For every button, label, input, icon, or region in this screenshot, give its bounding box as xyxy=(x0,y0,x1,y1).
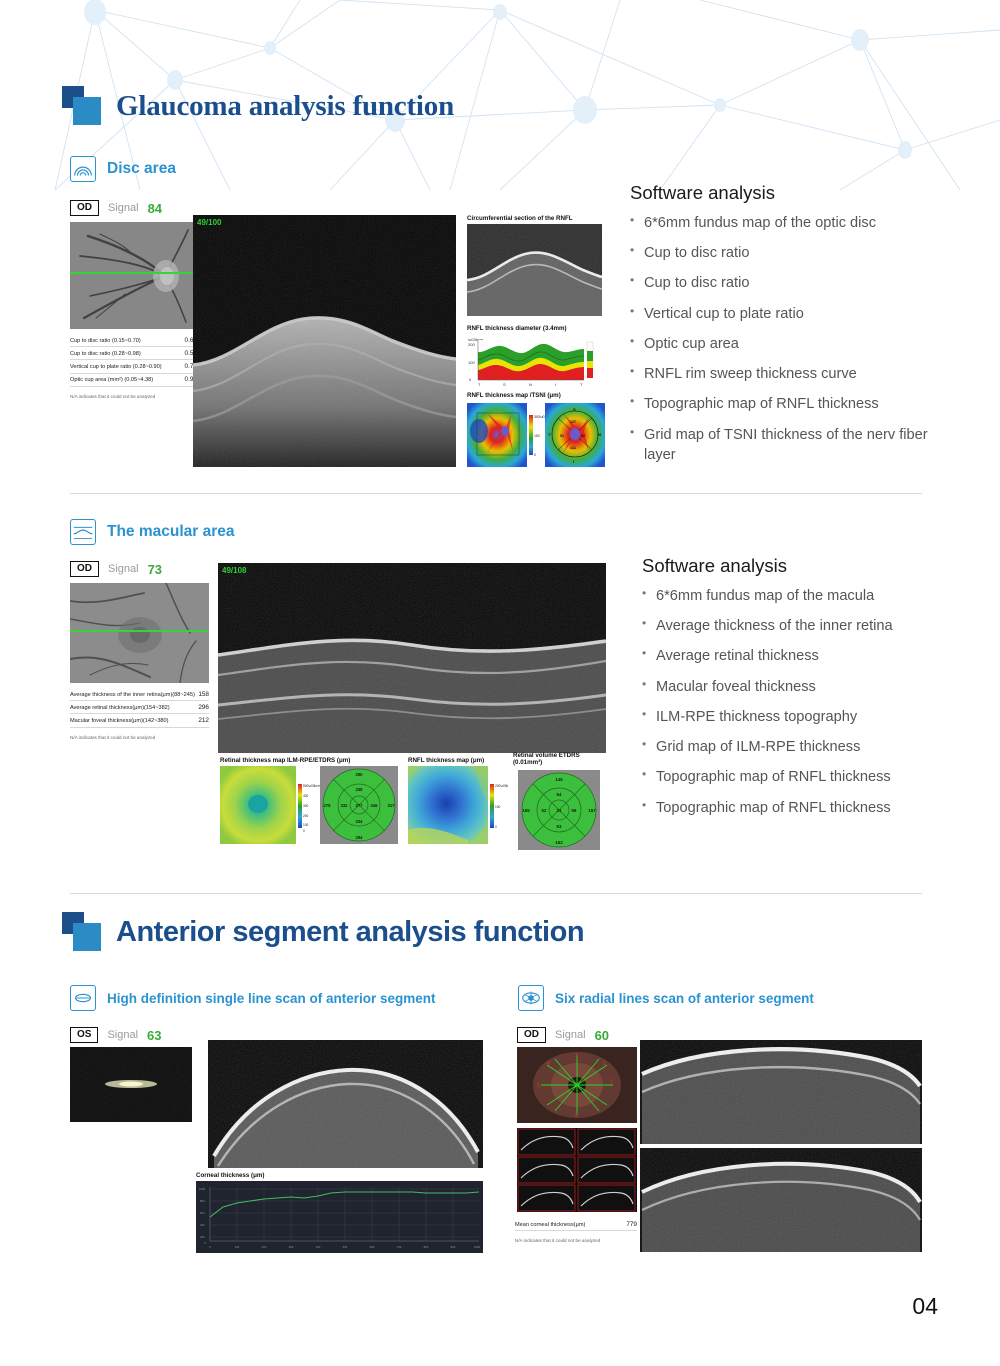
svg-text:700: 700 xyxy=(397,1245,402,1249)
metric-label: Macular foveal thickness(μm)(142~380) xyxy=(70,714,198,727)
anterior-preview-left xyxy=(70,1047,192,1122)
oct-frame-index: 49/100 xyxy=(197,218,221,227)
svg-text:0: 0 xyxy=(495,825,497,829)
list-item: Topographic map of RNFL thickness xyxy=(642,798,952,819)
svg-text:400: 400 xyxy=(316,1245,321,1249)
oct-strip-circumferential xyxy=(467,224,602,316)
table-row: Vertical cup to plate ratio (0.28~0.90) … xyxy=(70,360,197,373)
metric-label: Cup to disc ratio (0.28~0.98) xyxy=(70,347,182,360)
signal-label: Signal xyxy=(555,1029,586,1041)
svg-text:900: 900 xyxy=(451,1245,456,1249)
subsection-header-six-radial-scan: Six radial lines scan of anterior segmen… xyxy=(518,985,814,1011)
subsection-header-single-line-scan: High definition single line scan of ante… xyxy=(70,985,436,1011)
svg-text:I: I xyxy=(573,459,574,464)
retinal-thickness-visuals: 500\u03bcm400300 2001000 290 338 277 334… xyxy=(220,766,400,844)
metric-label: Average thickness of the inner retina(μm… xyxy=(70,688,198,701)
metric-value: 212 xyxy=(198,714,209,727)
svg-text:294: 294 xyxy=(356,835,364,840)
fundus-image-macula xyxy=(70,583,209,683)
section-title-anterior-segment: Anterior segment analysis function xyxy=(62,912,584,952)
svg-text:5: 5 xyxy=(537,1083,540,1089)
svg-text:54: 54 xyxy=(557,792,562,797)
svg-text:100: 100 xyxy=(495,805,501,809)
analysis-list: 6*6mm fundus map of the optic disc Cup t… xyxy=(630,213,950,466)
chart-caption: Circumferential section of the RNFL xyxy=(467,215,602,222)
svg-text:300: 300 xyxy=(289,1245,294,1249)
table-row: Average thickness of the inner retina(μm… xyxy=(70,688,209,701)
svg-text:600: 600 xyxy=(200,1211,205,1215)
svg-text:500\u03bcm: 500\u03bcm xyxy=(303,784,321,788)
svg-text:S: S xyxy=(503,382,506,387)
svg-text:400: 400 xyxy=(303,794,309,798)
svg-text:0: 0 xyxy=(469,377,472,382)
chart-caption: Retinal volume ETDRS (0.01mm³) xyxy=(513,752,608,766)
svg-text:800: 800 xyxy=(200,1199,205,1203)
analysis-title: Software analysis xyxy=(642,555,952,577)
radial-scan-preview: 123 456 xyxy=(517,1047,637,1123)
scan-line-indicator xyxy=(70,630,209,632)
svg-text:1: 1 xyxy=(610,1079,613,1085)
list-item: Grid map of ILM-RPE thickness xyxy=(642,737,952,758)
list-item: Vertical cup to plate ratio xyxy=(630,304,950,325)
oct-bscan-anterior-left xyxy=(208,1040,483,1168)
chart-circumferential-rnfl: Circumferential section of the RNFL xyxy=(467,215,602,316)
svg-text:317: 317 xyxy=(388,803,396,808)
oct-frame-index: 49/108 xyxy=(222,566,246,575)
svg-text:338: 338 xyxy=(356,787,364,792)
svg-text:290: 290 xyxy=(356,772,364,777)
scan-meta-anterior-left: OS Signal 63 xyxy=(70,1027,162,1043)
svg-text:127: 127 xyxy=(570,420,576,424)
subsection-header-disc-area: Disc area xyxy=(70,156,176,182)
svg-text:165: 165 xyxy=(522,808,530,813)
svg-text:S: S xyxy=(573,407,576,412)
svg-text:21: 21 xyxy=(557,808,562,813)
metric-value: 296 xyxy=(198,701,209,714)
list-item: Topographic map of RNFL thickness xyxy=(642,767,952,788)
eye-badge: OS xyxy=(70,1027,98,1043)
svg-text:3: 3 xyxy=(575,1053,578,1059)
rnfl-area-chart: \u03bcm 200 100 0 TSN IT xyxy=(467,334,602,389)
section-title-text: Glaucoma analysis function xyxy=(116,90,454,123)
subsection-label: High definition single line scan of ante… xyxy=(107,991,436,1006)
metric-label: Cup to disc ratio (0.15~0.70) xyxy=(70,334,182,347)
eye-badge: OD xyxy=(70,561,99,577)
svg-text:300: 300 xyxy=(303,804,309,808)
signal-label: Signal xyxy=(107,1029,138,1041)
svg-text:I: I xyxy=(555,382,556,387)
list-item: 6*6mm fundus map of the optic disc xyxy=(630,213,950,234)
subsection-label: The macular area xyxy=(107,523,235,541)
analysis-title: Software analysis xyxy=(630,182,950,204)
chart-retinal-thickness-map: Retinal thickness map ILM-RPE/ETDRS (μm) xyxy=(220,757,400,849)
rnfl-map-visual: 200\u03bcm1000 xyxy=(408,766,508,844)
signal-label: Signal xyxy=(108,563,139,575)
svg-text:275: 275 xyxy=(324,803,332,808)
chart-rnfl-thickness-map-tsni: RNFL thickness map /TSNI (μm) xyxy=(467,392,605,474)
list-item: RNFL rim sweep thickness curve xyxy=(630,364,950,385)
svg-text:600: 600 xyxy=(370,1245,375,1249)
section-title-glaucoma: Glaucoma analysis function xyxy=(62,86,454,126)
metric-label: Mean corneal thickness(μm) xyxy=(515,1218,621,1231)
list-item: Average retinal thickness xyxy=(642,646,952,667)
metrics-table-anterior: Mean corneal thickness(μm) 779 N/A indic… xyxy=(515,1218,637,1243)
svg-text:141: 141 xyxy=(570,446,576,450)
signal-value: 60 xyxy=(595,1028,609,1043)
radial-thumbnail-grid xyxy=(517,1128,637,1212)
cornea-line-icon xyxy=(70,985,96,1011)
svg-text:150: 150 xyxy=(534,434,540,438)
analysis-list: 6*6mm fundus map of the macula Average t… xyxy=(642,586,952,818)
svg-text:4: 4 xyxy=(547,1061,550,1067)
fundus-image-disc xyxy=(70,222,197,329)
svg-text:200\u03bcm: 200\u03bcm xyxy=(495,784,508,788)
svg-text:0: 0 xyxy=(534,453,536,457)
chart-rnfl-thickness-map: RNFL thickness map (μm) 200\u03bcm1000 xyxy=(408,757,508,849)
metric-value: 779 xyxy=(621,1218,637,1231)
list-item: Topographic map of RNFL thickness xyxy=(630,394,950,415)
svg-text:200: 200 xyxy=(303,814,309,818)
svg-text:2: 2 xyxy=(603,1061,606,1067)
signal-value: 73 xyxy=(148,562,162,577)
svg-text:346: 346 xyxy=(371,803,379,808)
svg-text:56: 56 xyxy=(572,808,577,813)
chart-caption: Corneal thickness (μm) xyxy=(196,1172,483,1179)
subsection-header-macular-area: The macular area xyxy=(70,519,235,545)
svg-text:6: 6 xyxy=(575,1113,578,1119)
metrics-table-disc: Cup to disc ratio (0.15~0.70) 0.61 Cup t… xyxy=(70,334,197,399)
scan-meta-macula: OD Signal 73 xyxy=(70,561,162,577)
scan-meta-disc: OD Signal 84 xyxy=(70,200,162,216)
svg-text:145: 145 xyxy=(555,777,563,782)
svg-text:T: T xyxy=(580,382,583,387)
na-note: N/A indicates that it could not be analy… xyxy=(70,394,197,399)
list-item: Cup to disc ratio xyxy=(630,243,950,264)
page-number: 04 xyxy=(912,1293,938,1320)
svg-text:500: 500 xyxy=(343,1245,348,1249)
list-item: Macular foveal thickness xyxy=(642,677,952,698)
scan-meta-anterior-right: OD Signal 60 xyxy=(517,1027,609,1043)
chart-rnfl-thickness-diameter: RNFL thickness diameter (3.4mm) \u03bcm … xyxy=(467,325,602,394)
list-item: Average thickness of the inner retina xyxy=(642,616,952,637)
svg-text:334: 334 xyxy=(356,819,364,824)
section-title-text: Anterior segment analysis function xyxy=(116,916,584,949)
svg-text:100: 100 xyxy=(303,823,309,827)
eye-badge: OD xyxy=(517,1027,546,1043)
tsni-heatmaps: 300\u03bcm 150 0 ST NI 12791 82141 xyxy=(467,401,605,469)
subsection-label: Disc area xyxy=(107,160,176,178)
subsection-label: Six radial lines scan of anterior segmen… xyxy=(555,991,814,1006)
metrics-table-macula: Average thickness of the inner retina(μm… xyxy=(70,688,209,740)
na-note: N/A indicates that it could not be analy… xyxy=(515,1238,637,1243)
table-row: Average retinal thickness(μm)(154~382) 2… xyxy=(70,701,209,714)
metric-label: Average retinal thickness(μm)(154~382) xyxy=(70,701,198,714)
oct-bscan-anterior-right-bottom xyxy=(640,1148,922,1252)
svg-text:800: 800 xyxy=(424,1245,429,1249)
disc-area-icon xyxy=(70,156,96,182)
metric-value: 158 xyxy=(198,688,209,701)
chart-caption: RNFL thickness map (μm) xyxy=(408,757,508,764)
macula-icon xyxy=(70,519,96,545)
chart-caption: Retinal thickness map ILM-RPE/ETDRS (μm) xyxy=(220,757,400,764)
svg-text:277: 277 xyxy=(356,803,364,808)
svg-text:82: 82 xyxy=(581,434,585,438)
na-note: N/A indicates that it could not be analy… xyxy=(70,735,209,740)
svg-text:91: 91 xyxy=(560,434,564,438)
table-row: Mean corneal thickness(μm) 779 xyxy=(515,1218,637,1231)
svg-text:100: 100 xyxy=(468,360,475,365)
chart-caption: RNFL thickness diameter (3.4mm) xyxy=(467,325,602,332)
oct-bscan-disc: 49/100 xyxy=(193,215,456,467)
chart-retinal-volume-etdrs: Retinal volume ETDRS (0.01mm³) 145 54 21… xyxy=(513,752,608,855)
software-analysis-disc: Software analysis 6*6mm fundus map of th… xyxy=(630,182,950,475)
divider xyxy=(70,893,922,894)
divider xyxy=(70,493,922,494)
list-item: ILM-RPE thickness topography xyxy=(642,707,952,728)
oct-bscan-macula: 49/108 xyxy=(218,563,606,753)
retinal-volume-grid: 145 54 21 53 152 165 52 56 157 xyxy=(513,768,608,850)
table-row: Cup to disc ratio (0.28~0.98) 0.59 xyxy=(70,347,197,360)
svg-text:400: 400 xyxy=(200,1223,205,1227)
svg-text:52: 52 xyxy=(542,808,547,813)
section-marker-icon xyxy=(62,912,102,952)
svg-text:200: 200 xyxy=(200,1235,205,1239)
scan-line-indicator xyxy=(70,272,197,274)
svg-text:N: N xyxy=(598,432,601,437)
signal-value: 84 xyxy=(148,201,162,216)
svg-text:157: 157 xyxy=(588,808,596,813)
radial-eye-icon xyxy=(518,985,544,1011)
chart-corneal-thickness-curve: Corneal thickness (μm) 1000800600 400200… xyxy=(196,1172,483,1258)
table-row: Optic cup area (mm²) (0.05~4.38) 0.98 xyxy=(70,373,197,386)
list-item: Cup to disc ratio xyxy=(630,273,950,294)
svg-text:0: 0 xyxy=(303,829,305,833)
svg-text:1000: 1000 xyxy=(199,1187,206,1191)
table-row: Macular foveal thickness(μm)(142~380) 21… xyxy=(70,714,209,727)
section-marker-icon xyxy=(62,86,102,126)
svg-text:100: 100 xyxy=(235,1245,240,1249)
svg-text:53: 53 xyxy=(557,824,562,829)
oct-bscan-anterior-right-top xyxy=(640,1040,922,1144)
signal-value: 63 xyxy=(147,1028,161,1043)
corneal-thickness-line-chart: 1000800600 4002000 0100200 300400500 600… xyxy=(196,1181,483,1253)
table-row: Cup to disc ratio (0.15~0.70) 0.61 xyxy=(70,334,197,347)
metric-label: Optic cup area (mm²) (0.05~4.38) xyxy=(70,373,182,386)
software-analysis-macula: Software analysis 6*6mm fundus map of th… xyxy=(642,555,952,828)
svg-text:200: 200 xyxy=(262,1245,267,1249)
svg-text:152: 152 xyxy=(555,840,563,845)
eye-badge: OD xyxy=(70,200,99,216)
svg-text:T: T xyxy=(478,382,481,387)
svg-text:332: 332 xyxy=(341,803,349,808)
signal-label: Signal xyxy=(108,202,139,214)
svg-text:N: N xyxy=(529,382,532,387)
svg-text:200: 200 xyxy=(468,342,475,347)
list-item: Grid map of TSNI thickness of the nerv f… xyxy=(630,425,950,466)
list-item: Optic cup area xyxy=(630,334,950,355)
list-item: 6*6mm fundus map of the macula xyxy=(642,586,952,607)
svg-text:1000: 1000 xyxy=(474,1245,481,1249)
metric-label: Vertical cup to plate ratio (0.28~0.90) xyxy=(70,360,182,373)
brochure-page: Glaucoma analysis function Disc area OD … xyxy=(0,0,1000,1366)
chart-caption: RNFL thickness map /TSNI (μm) xyxy=(467,392,605,399)
